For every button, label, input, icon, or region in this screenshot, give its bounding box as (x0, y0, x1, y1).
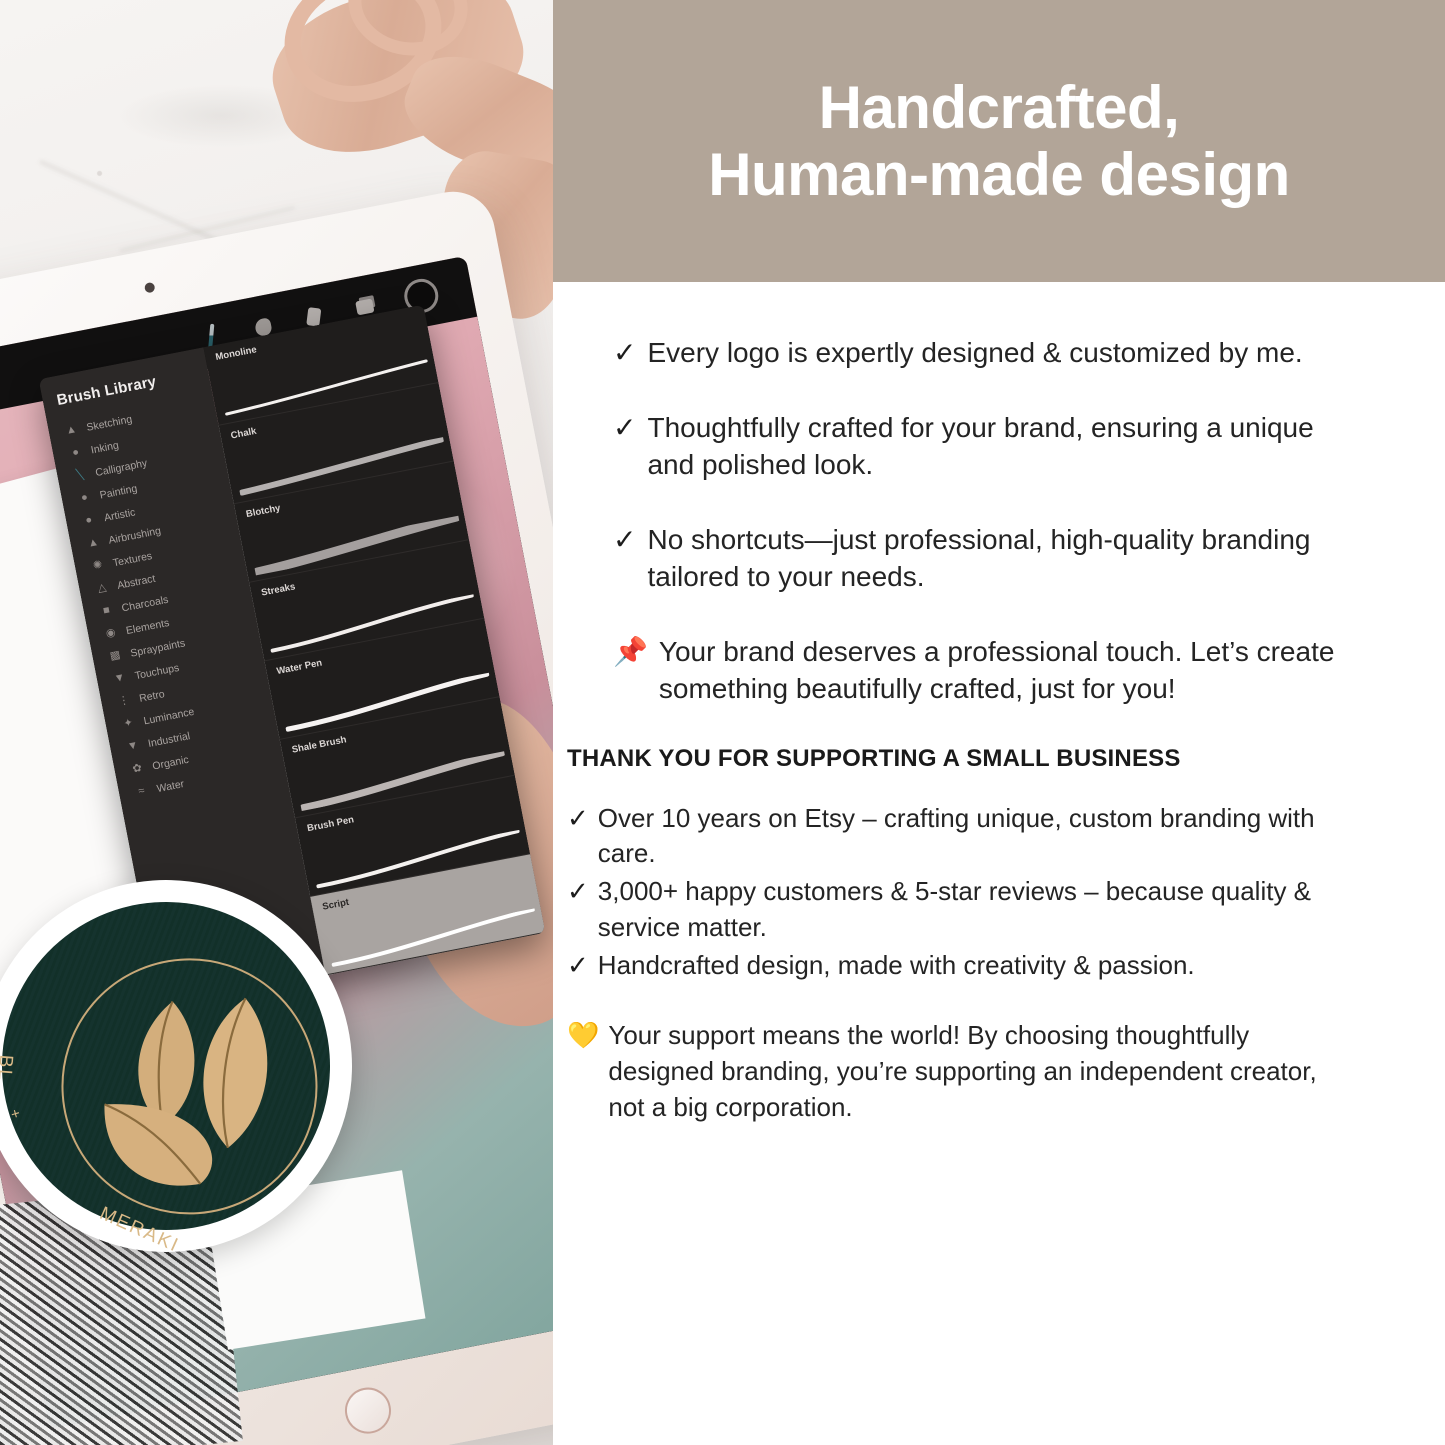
logo-separator: + (5, 1107, 24, 1122)
credential-item: ✓ 3,000+ happy customers & 5-star review… (567, 874, 1357, 946)
ink-drop-icon: ● (68, 445, 83, 460)
body-content: ✓ Every logo is expertly designed & cust… (553, 282, 1445, 1126)
benefit-text: Every logo is expertly designed & custom… (647, 334, 1302, 372)
charcoal-block-icon: ■ (99, 603, 114, 618)
brush-category-label: Water (156, 778, 185, 795)
section-heading: THANK YOU FOR SUPPORTING A SMALL BUSINES… (567, 745, 1415, 773)
benefit-text: Your brand deserves a professional touch… (659, 633, 1343, 708)
waves-icon: ≈ (134, 784, 149, 799)
text-panel: Handcrafted, Human-made design ✓ Every l… (553, 0, 1445, 1445)
product-photo: + Brush Library ▲Sketching ●Inking ╲Call… (0, 0, 553, 1445)
brush-category-label: Industrial (147, 730, 191, 750)
sparkle-icon: ✦ (121, 716, 136, 731)
brush-category-label: Painting (99, 482, 139, 501)
check-icon: ✓ (613, 409, 636, 446)
brush-category-label: Organic (151, 753, 189, 772)
brush-category-label: Elements (125, 616, 170, 636)
triangle-icon: △ (95, 581, 110, 596)
spray-can-icon: ▩ (108, 649, 123, 664)
credential-item: ✓ Over 10 years on Etsy – crafting uniqu… (567, 801, 1357, 873)
leaf-icon: ✿ (130, 761, 145, 776)
hero-line-1: Handcrafted, (819, 74, 1180, 141)
airbrush-icon: ▲ (86, 536, 101, 551)
credential-item: ✓ Handcrafted design, made with creativi… (567, 948, 1357, 984)
brush-category-label: Touchups (134, 661, 180, 681)
check-icon: ✓ (567, 874, 589, 910)
check-icon: ✓ (613, 521, 636, 558)
pushpin-icon: 📌 (613, 633, 648, 670)
brush-category-label: Artistic (103, 506, 136, 524)
closing-text: Your support means the world! By choosin… (608, 1018, 1357, 1126)
elements-circle-icon: ◉ (103, 626, 118, 641)
benefit-item: ✓ Every logo is expertly designed & cust… (613, 334, 1343, 372)
yellow-heart-icon: 💛 (567, 1018, 599, 1054)
industrial-icon: ▼ (125, 739, 140, 754)
brush-category-label: Abstract (116, 572, 156, 591)
hero-line-2: Human-made design (708, 141, 1290, 208)
credentials-list: ✓ Over 10 years on Etsy – crafting uniqu… (567, 801, 1415, 1126)
check-icon: ✓ (613, 334, 636, 371)
benefit-text: No shortcuts—just professional, high-qua… (647, 521, 1343, 596)
circular-sticker-logo: MERAKI + BL (0, 867, 365, 1264)
hero-banner: Handcrafted, Human-made design (553, 0, 1445, 282)
credential-text: Handcrafted design, made with creativity… (598, 948, 1195, 984)
benefit-text: Thoughtfully crafted for your brand, ens… (647, 409, 1343, 484)
brush-category-label: Textures (112, 549, 153, 568)
listing-image: + Brush Library ▲Sketching ●Inking ╲Call… (0, 0, 1445, 1445)
benefit-item: ✓ Thoughtfully crafted for your brand, e… (613, 409, 1343, 484)
check-icon: ✓ (567, 801, 589, 837)
benefit-item: 📌 Your brand deserves a professional tou… (613, 633, 1343, 708)
home-button[interactable] (341, 1384, 395, 1438)
gold-leaves-mark (68, 967, 311, 1208)
page-title: Handcrafted, Human-made design (708, 74, 1290, 208)
texture-dots-icon: ✺ (90, 558, 105, 573)
sticker-green-field: MERAKI + BL (0, 891, 341, 1241)
brush-category-label: Retro (138, 688, 166, 705)
logo-brand-text-2: BL (0, 1054, 16, 1083)
brush-category-label: Sketching (85, 413, 133, 434)
pencil-tip-icon: ▲ (64, 423, 79, 438)
benefit-item: ✓ No shortcuts—just professional, high-q… (613, 521, 1343, 596)
front-camera (144, 282, 156, 294)
credential-text: Over 10 years on Etsy – crafting unique,… (598, 801, 1357, 873)
touchup-fan-icon: ▼ (112, 671, 127, 686)
credential-text: 3,000+ happy customers & 5-star reviews … (598, 874, 1357, 946)
paint-drop-icon: ● (77, 491, 92, 506)
retro-icon: ⋮ (116, 694, 131, 709)
calligraphy-nib-icon: ╲ (73, 468, 88, 483)
brush-category-label: Inking (90, 439, 120, 456)
closing-note: 💛 Your support means the world! By choos… (567, 1018, 1357, 1126)
check-icon: ✓ (567, 948, 589, 984)
artistic-drop-icon: ● (81, 513, 96, 528)
